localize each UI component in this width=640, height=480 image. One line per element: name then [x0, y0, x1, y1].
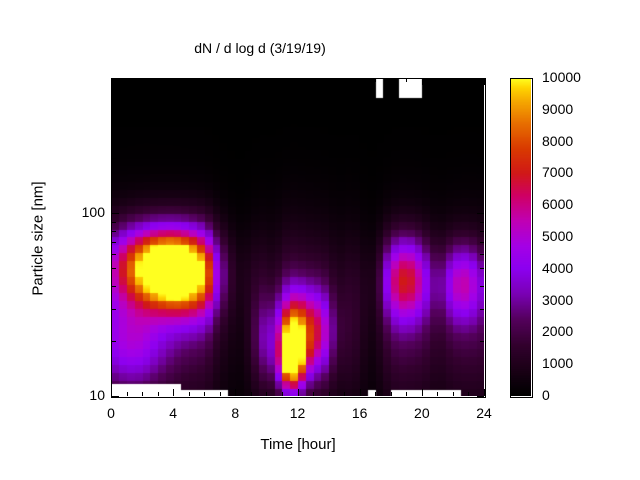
x-major-tick [484, 389, 485, 396]
x-tick-label: 24 [476, 405, 492, 421]
y-major-tick-right [477, 396, 484, 397]
colorbar-gradient [510, 78, 531, 396]
colorbar-tick-label: 5000 [542, 228, 573, 244]
x-tick-label: 12 [290, 405, 306, 421]
x-tick-label: 8 [231, 405, 239, 421]
colorbar-tick-label: 10000 [542, 69, 581, 85]
colorbar-tick-label: 1000 [542, 355, 573, 371]
colorbar-tick-label: 4000 [542, 260, 573, 276]
x-axis-label: Time [hour] [111, 436, 485, 453]
y-major-tick [112, 396, 119, 397]
y-tick-label: 100 [57, 204, 105, 220]
chart-root: dN / d log d (3/19/19) 04812162024 10100… [0, 0, 640, 480]
y-axis-label: Particle size [nm] [30, 139, 47, 339]
colorbar-tick-label: 9000 [542, 101, 573, 117]
colorbar-tick-label: 3000 [542, 292, 573, 308]
y-tick-label: 10 [57, 387, 105, 403]
page-title: dN / d log d (3/19/19) [0, 40, 520, 56]
colorbar-tick-label: 8000 [542, 133, 573, 149]
x-tick-label: 16 [352, 405, 368, 421]
colorbar-tick-label: 0 [542, 387, 550, 403]
colorbar-tick-label: 7000 [542, 164, 573, 180]
x-tick-label: 4 [169, 405, 177, 421]
colorbar-tick-label: 2000 [542, 323, 573, 339]
x-tick-label: 20 [414, 405, 430, 421]
colorbar-tick-label: 6000 [542, 196, 573, 212]
x-major-tick-top [484, 78, 485, 85]
heatmap-canvas [111, 78, 484, 396]
x-tick-label: 0 [107, 405, 115, 421]
